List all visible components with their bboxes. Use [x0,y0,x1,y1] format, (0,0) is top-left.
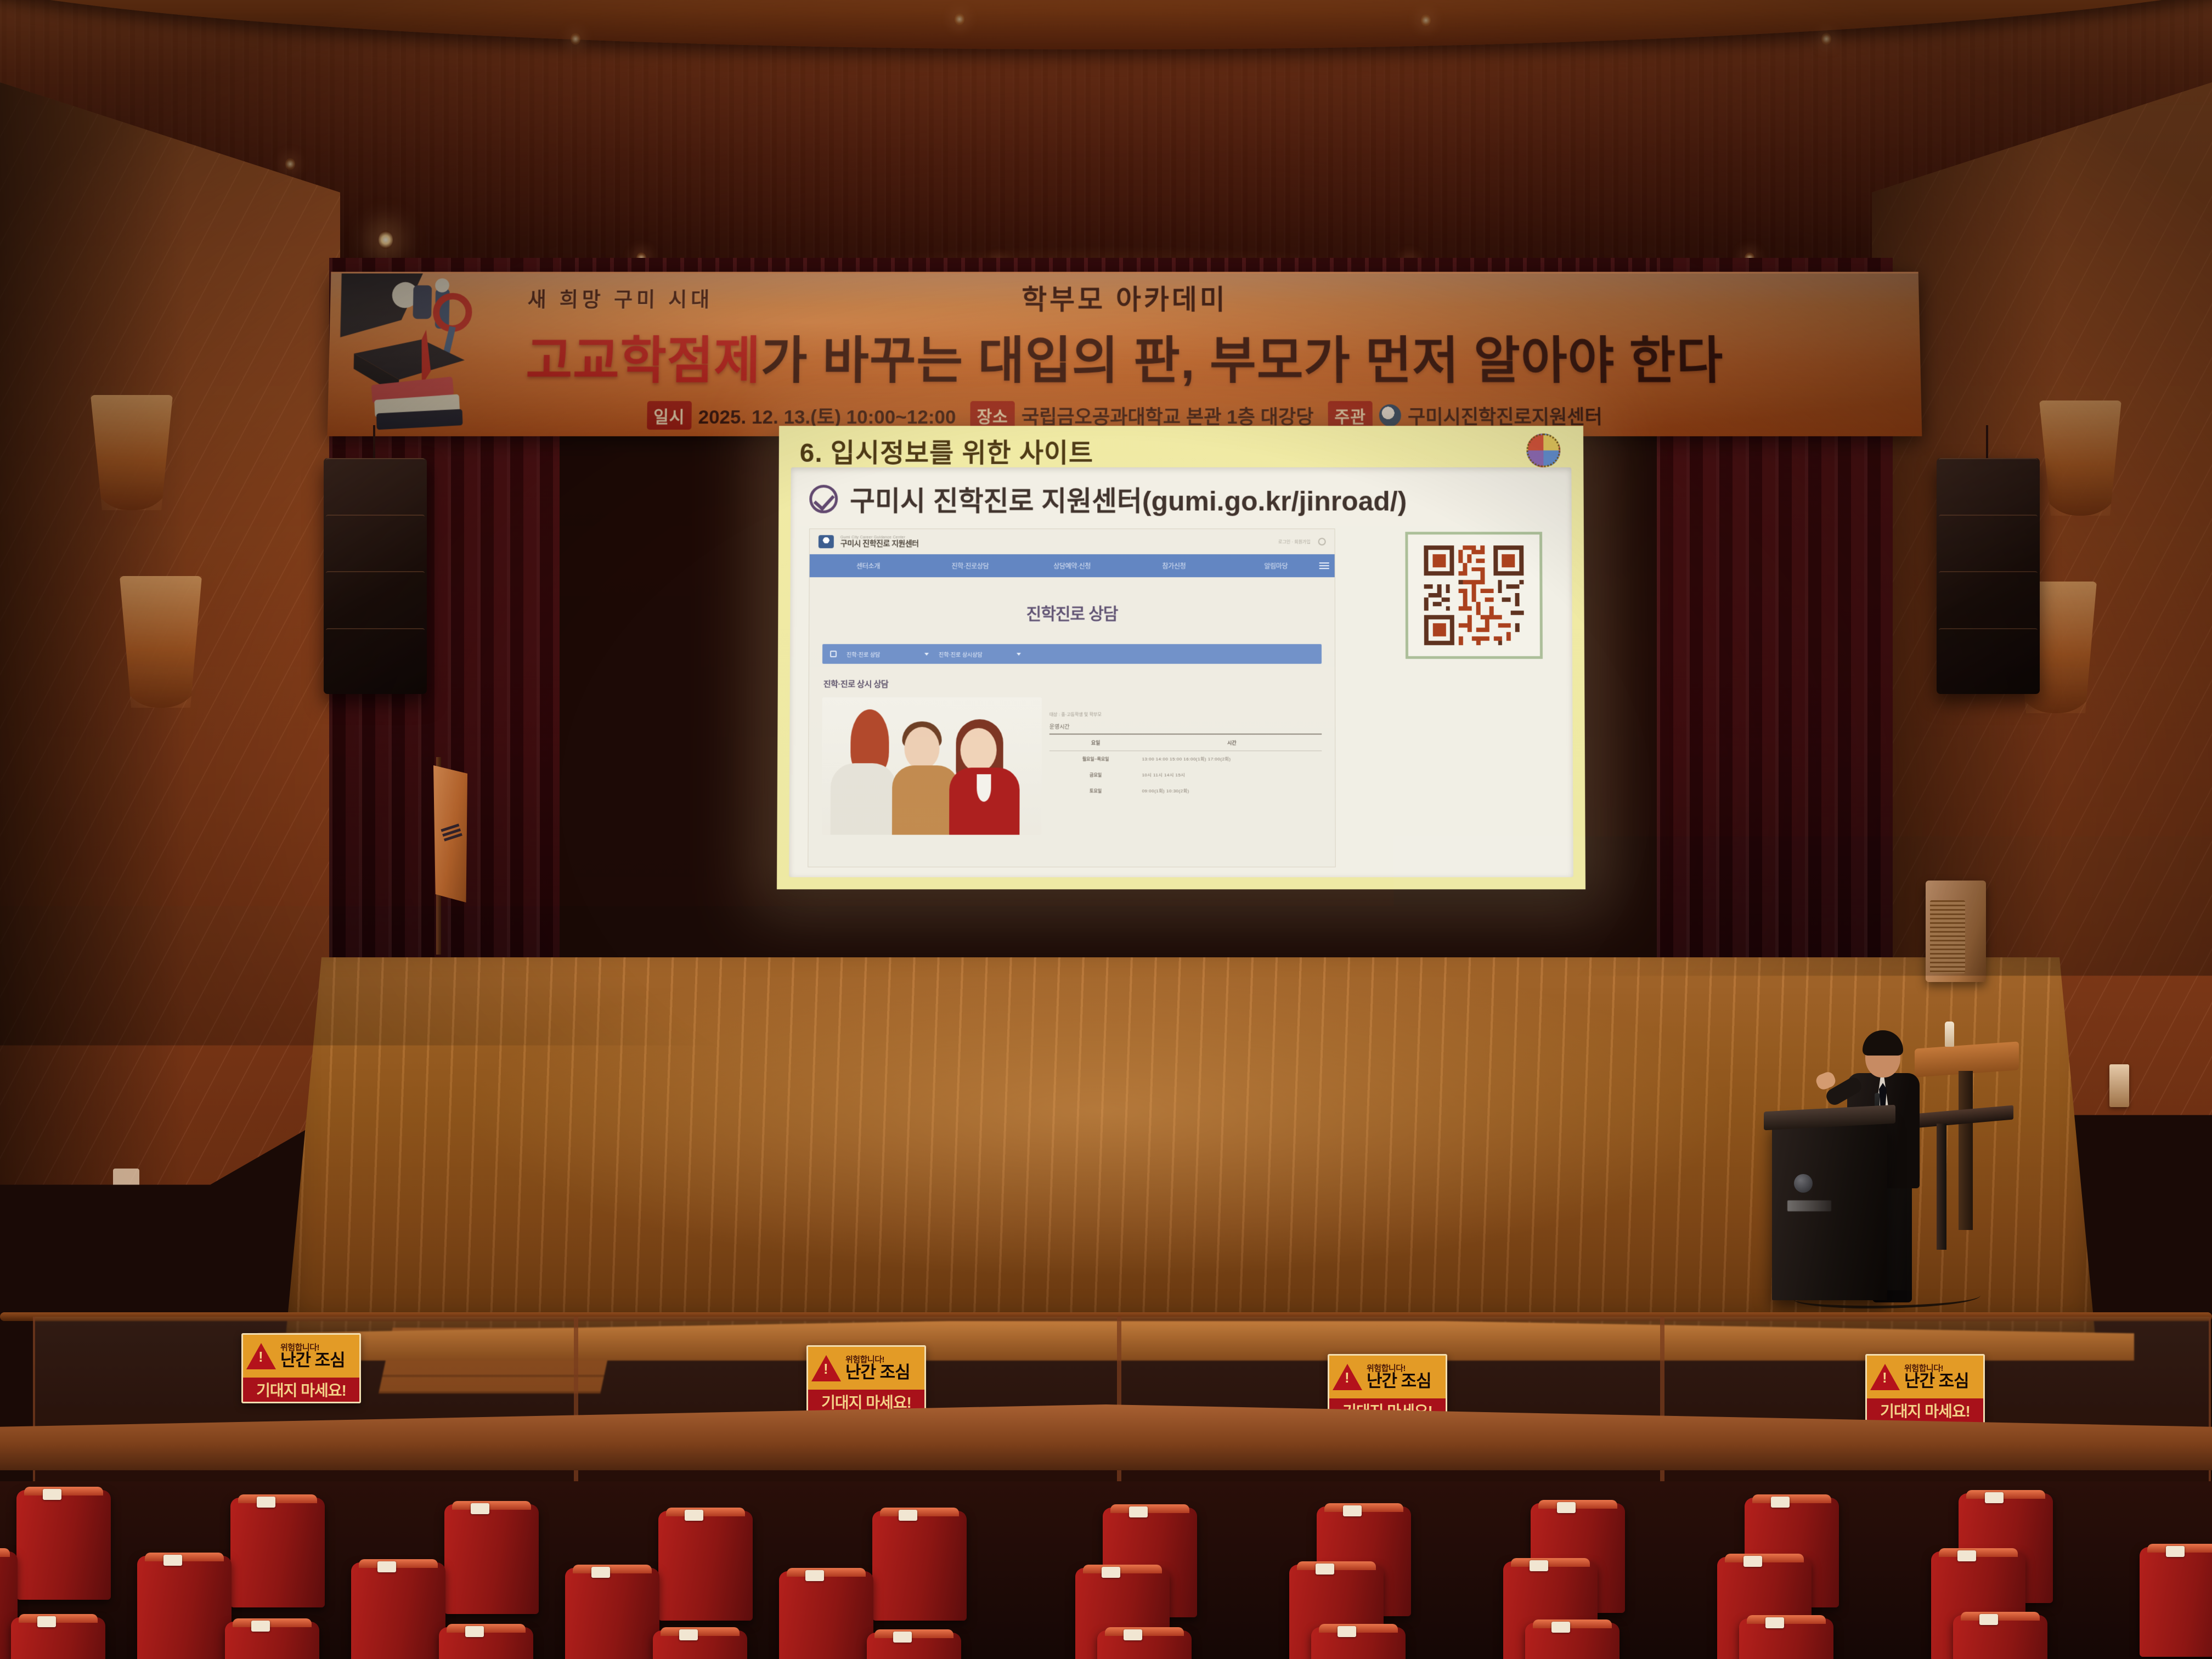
warning-big-text: 난간 조심 [1367,1373,1431,1390]
seat-number-plate [1557,1502,1576,1513]
schedule-day-0: 월요일~목요일 [1049,756,1142,762]
website-heading: 진학진로 상담 [809,577,1335,644]
website-section-title: 진학·진로 상시 상담 [823,678,1335,690]
warning-triangle-icon [1333,1364,1362,1390]
chevron-down-icon [1017,653,1021,656]
website-nav-item-2[interactable]: 상담예약·신청 [1021,561,1123,571]
website-top-links[interactable]: 로그인 · 회원가입 [1278,539,1311,545]
banner-title-rest: 가 바꾸는 대입의 판, 부모가 먼저 알아야 한다 [760,333,1724,389]
warning-sign: 위험합니다! 난간 조심 기대지 마세요! [806,1345,926,1415]
table-row: 토요일 09:00(1회) 10:30(2회) [1049,783,1322,799]
list-item[interactable] [439,1627,533,1659]
presentation-slide: 6. 입시정보를 위한 사이트 구미시 진학진로 지원센터(gumi.go.kr… [777,426,1585,889]
seat-number-plate [1530,1560,1548,1571]
seat-number-plate [465,1626,484,1637]
schedule-day-2: 토요일 [1049,788,1142,794]
wall-fixture-right-upper [2109,1064,2129,1107]
warning-big-text: 난간 조심 [1904,1373,1969,1390]
slide-body: 구미시 진학진로 지원센터(gumi.go.kr/jinroad/) Gumi … [789,467,1573,877]
list-item[interactable] [653,1630,747,1659]
speaker-hang-wire-left [373,425,375,458]
website-nav-item-3[interactable]: 참가신청 [1123,561,1225,571]
chevron-down-icon [924,653,929,656]
banner-subtitle: 학부모 아카데미 [330,278,1919,317]
seat-number-plate [1765,1617,1784,1628]
lectern-badge-icon [1794,1174,1813,1193]
schedule-label: 운영시간 [1049,722,1322,730]
warning-bottom-text: 기대지 마세요! [243,1378,359,1402]
counseling-photo [822,697,1042,835]
slide-bullet-row: 구미시 진학진로 지원센터(gumi.go.kr/jinroad/) [791,467,1572,527]
website-header: Gumi City Career Guidance Center 구미시 진학진… [810,529,1335,554]
list-item[interactable] [1953,1615,2047,1659]
list-item[interactable] [1311,1627,1406,1659]
seat-number-plate [1743,1556,1762,1567]
list-item[interactable] [867,1633,961,1659]
list-item[interactable] [1525,1623,1620,1659]
ceiling-downlight [1421,14,1431,26]
warning-big-text: 난간 조심 [845,1364,910,1381]
water-bottle [1945,1022,1954,1047]
schedule-time-2: 09:00(1회) 10:30(2회) [1142,788,1322,794]
seat-number-plate [1551,1622,1570,1633]
projection-screen: 6. 입시정보를 위한 사이트 구미시 진학진로 지원센터(gumi.go.kr… [777,426,1585,889]
table-row: 월요일~목요일 13:00 14:00 15:00 16:00(1회) 17:0… [1049,751,1322,767]
lectern-logo [1787,1200,1831,1211]
wall-sconce-left-upper [91,395,173,510]
warning-triangle-icon [811,1355,841,1381]
seat-number-plate [1343,1505,1362,1516]
banner-value-date: 2025. 12. 13.(토) 10:00~12:00 [698,402,956,430]
list-item[interactable] [779,1571,873,1659]
auditorium-seats [0,1481,2212,1659]
search-icon[interactable] [1318,538,1326,545]
website-nav: 센터소개 진학·진로상담 상담예약·신청 참가신청 알림마당 [810,554,1335,577]
seat-number-plate [37,1616,56,1627]
list-item[interactable] [1097,1630,1192,1659]
hamburger-menu-icon[interactable] [1319,562,1329,569]
list-item[interactable] [444,1504,539,1614]
seat-number-plate [163,1555,182,1566]
schedule-table-header: 요일 시간 [1049,735,1322,751]
seat-number-plate [591,1567,610,1578]
wall-plate-right-lower [2115,1256,2129,1282]
seat-number-plate [2166,1546,2185,1557]
ceiling-downlight [379,230,393,249]
banner-title: 고교학점제가 바꾸는 대입의 판, 부모가 먼저 알아야 한다 [328,320,1921,393]
line-array-pa-speaker-right [1937,458,2040,694]
seat-number-plate [377,1561,396,1572]
list-item[interactable] [565,1568,659,1659]
auditorium-scene: 새 희망 구미 시대 학부모 아카데미 고교학점제가 바꾸는 대입의 판, 부모… [0,0,2212,1659]
banner-value-host: 구미시진학진로지원센터 [1408,402,1602,430]
slide-title: 6. 입시정보를 위한 사이트 [800,431,1094,470]
list-item[interactable] [225,1622,319,1659]
website-content: 대상 : 중·고등학생 및 학부모 운영시간 요일 시간 월요일~목요일 13:… [809,690,1335,835]
warning-triangle-icon [246,1343,276,1369]
warning-big-text: 난간 조심 [280,1352,345,1369]
seat-number-plate [685,1510,703,1521]
table-row: 금요일 10시 11시 14시 15시 [1049,767,1322,783]
home-icon[interactable] [830,651,837,657]
ceiling-downlight [1821,33,1831,45]
list-item[interactable] [1739,1618,1833,1659]
schedule-table: 대상 : 중·고등학생 및 학부모 운영시간 요일 시간 월요일~목요일 13:… [1049,697,1322,835]
list-item[interactable] [16,1490,111,1600]
seat-number-plate [1124,1629,1142,1640]
list-item[interactable] [351,1562,445,1659]
website-logo-text: Gumi City Career Guidance Center 구미시 진학진… [840,535,919,548]
seat-number-plate [257,1497,275,1508]
wall-switch-plate-left[interactable] [113,1169,139,1200]
line-array-pa-speaker-left [324,458,427,694]
seat-number-plate [251,1621,270,1632]
website-screenshot: Gumi City Career Guidance Center 구미시 진학진… [808,528,1335,867]
banner-tag-date: 일시 [647,401,692,430]
website-nav-item-0[interactable]: 센터소개 [817,561,919,571]
seat-number-plate [1985,1492,2004,1503]
check-circle-icon [809,485,838,513]
warning-sign: 위험합니다! 난간 조심 기대지 마세요! [241,1333,361,1403]
seat-number-plate [893,1632,912,1643]
seat-number-plate [1979,1614,1998,1625]
schedule-time-0: 13:00 14:00 15:00 16:00(1회) 17:00(2회) [1142,756,1322,762]
event-banner: 새 희망 구미 시대 학부모 아카데미 고교학점제가 바꾸는 대입의 판, 부모… [328,272,1922,436]
seat-number-plate [1129,1506,1148,1517]
qr-code-icon [1414,541,1533,650]
website-nav-item-4[interactable]: 알림마당 [1225,561,1327,571]
schedule-note: 대상 : 중·고등학생 및 학부모 [1049,712,1322,718]
list-item[interactable] [137,1556,232,1659]
filter-select-1[interactable]: 진학·진로 상담 [847,650,929,658]
wall-plate-right-mid [2107,1169,2121,1200]
ceiling-downlight [571,33,580,45]
organization-emblem-icon [1526,433,1560,467]
schedule-day-1: 금요일 [1049,772,1142,778]
seat-number-plate [1338,1626,1356,1637]
website-header-right: 로그인 · 회원가입 [1278,538,1326,545]
speaker-hang-wire-right [1986,425,1988,458]
banner-value-place: 국립금오공과대학교 본관 1층 대강당 [1022,402,1314,430]
banner-title-highlight: 고교학점제 [526,333,761,389]
seat-number-plate [1102,1567,1120,1578]
portable-air-conditioner [1926,881,1986,982]
side-table-leg [1959,1071,1973,1230]
ac-vent-grille [1930,900,1965,973]
qr-code-container [1405,532,1543,659]
seat-number-plate [1957,1550,1976,1561]
ceiling-downlight [285,158,295,170]
seat-number-plate [471,1503,489,1514]
ceiling-downlight [955,13,964,25]
seat-number-plate [1316,1564,1334,1575]
list-item[interactable] [872,1511,967,1621]
warning-bottom-text: 기대지 마세요! [1867,1398,1983,1423]
filter-select-2-label: 진학·진로 상시상담 [939,650,983,658]
wall-sconce-right-upper [2039,400,2121,516]
list-item[interactable] [11,1617,105,1659]
schedule-time-1: 10시 11시 14시 15시 [1142,772,1322,778]
schedule-header-time: 시간 [1142,739,1322,746]
website-logo-icon [819,535,834,548]
filter-select-1-label: 진학·진로 상담 [847,650,880,658]
website-nav-item-1[interactable]: 진학·진로상담 [919,561,1021,571]
list-item[interactable] [658,1511,753,1621]
seat-number-plate [805,1570,824,1581]
seat-number-plate [679,1629,698,1640]
list-item[interactable] [230,1498,325,1607]
organization-logo-icon [1379,404,1401,426]
wall-sconce-left-lower [120,576,202,708]
website-logo-ko: 구미시 진학진로 지원센터 [840,540,919,548]
warning-sign: 위험합니다! 난간 조심 기대지 마세요! [1865,1354,1985,1424]
seat-number-plate [43,1489,61,1500]
schedule-header-day: 요일 [1049,739,1142,746]
filter-select-2[interactable]: 진학·진로 상시상담 [939,650,1021,658]
slide-bullet-text: 구미시 진학진로 지원센터(gumi.go.kr/jinroad/) [850,479,1407,519]
seat-number-plate [1771,1497,1790,1508]
seat-number-plate [899,1510,917,1521]
website-filter-bar: 진학·진로 상담 진학·진로 상시상담 [822,644,1322,664]
warning-triangle-icon [1870,1364,1900,1390]
list-item[interactable] [2140,1547,2212,1657]
